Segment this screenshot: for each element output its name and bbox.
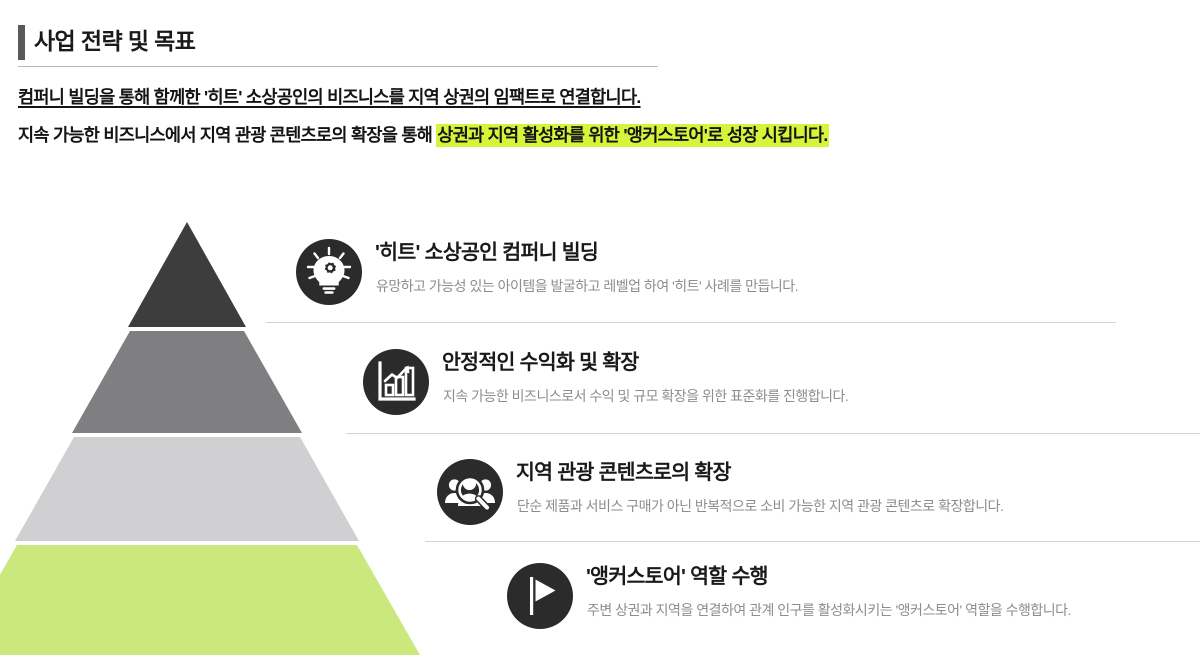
pyramid-row-4-title: '앵커스토어' 역할 수행 [586, 564, 768, 590]
pyramid-legend-rows: '히트' 소상공인 컴퍼니 빌딩 유망하고 가능성 있는 아이템을 발굴하고 레… [0, 0, 1200, 663]
pyramid-row-3-desc: 단순 제품과 서비스 구매가 아닌 반복적으로 소비 가능한 지역 관광 콘텐츠… [517, 496, 1003, 516]
pyramid-row-4-desc: 주변 상권과 지역을 연결하여 관계 인구를 활성화시키는 '앵커스토어' 역할… [587, 600, 1071, 620]
pyramid-row-2-title: 안정적인 수익화 및 확장 [442, 350, 639, 376]
pyramid-row-1-title: '히트' 소상공인 컴퍼니 빌딩 [375, 240, 598, 266]
pyramid-row-2-desc: 지속 가능한 비즈니스로서 수익 및 규모 확장을 위한 표준화를 진행합니다. [443, 386, 848, 406]
pyramid-row-3-title: 지역 관광 콘텐츠로의 확장 [516, 460, 731, 486]
bar-chart-growth-icon [362, 348, 430, 416]
pyramid-row-1-desc: 유망하고 가능성 있는 아이템을 발굴하고 레벨업 하여 '히트' 사례를 만듭… [376, 276, 798, 296]
people-magnifier-icon [436, 458, 504, 526]
lightbulb-gear-icon [295, 238, 363, 306]
slide: 사업 전략 및 목표 컴퍼니 빌딩을 통해 함께한 '히트' 소상공인의 비즈니… [0, 0, 1200, 663]
flag-icon [506, 562, 574, 630]
